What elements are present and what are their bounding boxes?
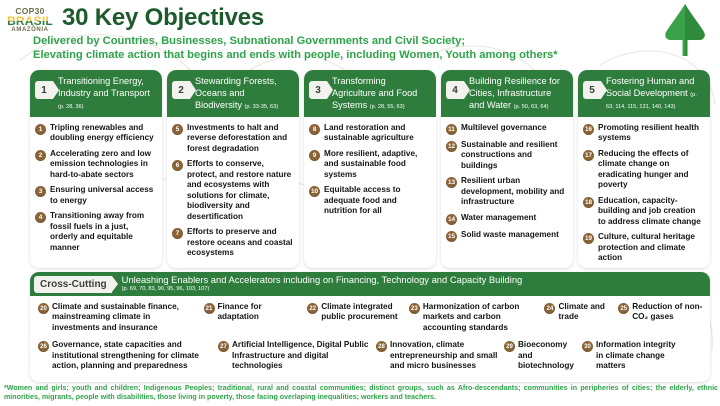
objective-text: Sustainable and resilient constructions …	[461, 140, 568, 172]
objective-number: 15	[446, 231, 457, 242]
cross-cutting-item: 30Information integrity in climate chang…	[582, 340, 678, 371]
cross-cutting-item-number: 30	[582, 341, 593, 352]
pillar-title: Building Resilience for Cities, Infrastr…	[469, 75, 567, 112]
logo-brasil-text: BRASIL	[6, 15, 54, 27]
pillar-body: 11Multilevel governance12Sustainable and…	[441, 117, 573, 268]
pillar-number-badge: 5	[583, 81, 601, 99]
cross-cutting-item: 28Innovation, climate entrepreneurship a…	[376, 340, 498, 371]
cross-cutting-items: 20Climate and sustainable finance, mains…	[30, 296, 710, 382]
objective-number: 13	[446, 177, 457, 188]
pillar-header-5: 5Fostering Human and Social Development …	[578, 70, 710, 117]
footnote: *Women and girls; youth and children; In…	[4, 384, 718, 403]
objective-item: 7Efforts to preserve and restore oceans …	[172, 227, 294, 259]
pillar-header-1: 1Transitioning Energy, Industry and Tran…	[30, 70, 162, 117]
cross-cutting-item-number: 23	[409, 303, 420, 314]
cross-cutting-item-text: Climate and trade	[558, 302, 612, 323]
objective-item: 14Water management	[446, 213, 568, 225]
objective-text: Water management	[461, 213, 536, 224]
cross-cutting-item-number: 25	[618, 303, 629, 314]
objective-number: 10	[309, 186, 320, 197]
objective-number: 5	[172, 124, 183, 135]
objective-item: 2Accelerating zero and low emission tech…	[35, 149, 157, 181]
pillar-title: Fostering Human and Social Development (…	[606, 75, 704, 112]
cross-cutting-badge: Cross-Cutting	[34, 276, 112, 293]
objective-number: 7	[172, 228, 183, 239]
pillar-4: 4Building Resilience for Cities, Infrast…	[441, 70, 573, 268]
cross-cutting-item-text: Harmonization of carbon markets and carb…	[423, 302, 539, 333]
pillar-header-2: 2Stewarding Forests, Oceans and Biodiver…	[167, 70, 299, 117]
objective-item: 12Sustainable and resilient construction…	[446, 140, 568, 172]
cross-cutting-item-number: 22	[307, 303, 318, 314]
objective-number: 19	[583, 233, 594, 244]
cross-cutting-heading: Unleashing Enablers and Accelerators inc…	[118, 275, 523, 292]
pillar-header-4: 4Building Resilience for Cities, Infrast…	[441, 70, 573, 117]
cross-cutting-item: 23Harmonization of carbon markets and ca…	[409, 302, 539, 333]
cross-cutting-item-text: Bioeconomy and biotechnology	[518, 340, 576, 371]
cross-cutting-item-text: Climate integrated public procurement	[321, 302, 403, 323]
objective-item: 15Solid waste management	[446, 230, 568, 242]
pillar-5: 5Fostering Human and Social Development …	[578, 70, 710, 268]
cross-cutting-item: 25Reduction of non-CO₂ gases	[618, 302, 704, 333]
objective-text: Culture, cultural heritage protection an…	[598, 232, 705, 264]
objective-text: Transitioning away from fossil fuels in …	[50, 211, 157, 253]
objective-number: 6	[172, 160, 183, 171]
cross-cutting-item: 29Bioeconomy and biotechnology	[504, 340, 576, 371]
cross-cutting-row: 26Governance, state capacities and insti…	[38, 340, 704, 371]
cross-cutting-pages: (p. 69, 70, 83, 90, 95, 96, 103, 107)	[122, 286, 523, 292]
cross-cutting-panel: Cross-Cutting Unleashing Enablers and Ac…	[30, 272, 710, 382]
pillar-title: Transitioning Energy, Industry and Trans…	[58, 75, 156, 112]
cross-cutting-item: 27Artificial Intelligence, Digital Publi…	[218, 340, 370, 371]
cross-cutting-item-text: Climate and sustainable finance, mainstr…	[52, 302, 198, 333]
objective-item: 9More resilient, adaptive, and sustainab…	[309, 149, 431, 181]
pillar-title: Transforming Agriculture and Food System…	[332, 75, 430, 112]
objective-number: 1	[35, 124, 46, 135]
objective-text: Solid waste management	[461, 230, 559, 241]
objective-text: Tripling renewables and doubling energy …	[50, 123, 157, 144]
logo-amazonia-text: AMAZÔNIA	[11, 27, 48, 33]
cross-cutting-item-number: 29	[504, 341, 515, 352]
objective-number: 3	[35, 186, 46, 197]
cross-cutting-header: Cross-Cutting Unleashing Enablers and Ac…	[30, 272, 710, 296]
pillar-page-reference: (p. 28, 36)	[58, 104, 84, 110]
page-header: COP30 BRASIL AMAZÔNIA 30 Key Objectives …	[0, 0, 720, 70]
objective-text: Multilevel governance	[461, 123, 547, 134]
objective-number: 18	[583, 197, 594, 208]
pillar-3: 3Transforming Agriculture and Food Syste…	[304, 70, 436, 268]
objective-number: 14	[446, 214, 457, 225]
objective-item: 17Reducing the effects of climate change…	[583, 149, 705, 191]
pillar-page-reference: (p. 50, 63, 64)	[514, 104, 549, 110]
pillar-title-text: Transitioning Energy, Industry and Trans…	[58, 76, 150, 98]
subtitle-line-1: Delivered by Countries, Businesses, Subn…	[33, 34, 713, 48]
subtitle-line-2: Elevating climate action that begins and…	[33, 48, 713, 62]
objective-item: 18Education, capacity-building and job c…	[583, 196, 705, 228]
cross-cutting-item: 22Climate integrated public procurement	[307, 302, 403, 333]
cop30-logo: COP30 BRASIL AMAZÔNIA	[6, 3, 54, 37]
amazonia-tree-icon	[658, 2, 712, 60]
objective-number: 17	[583, 150, 594, 161]
cross-cutting-item: 24Climate and trade	[544, 302, 612, 333]
objective-item: 8Land restoration and sustainable agricu…	[309, 123, 431, 144]
objective-number: 11	[446, 124, 457, 135]
pillar-number-badge: 1	[35, 81, 53, 99]
objective-text: Accelerating zero and low emission techn…	[50, 149, 157, 181]
cross-cutting-item-text: Information integrity in climate change …	[596, 340, 678, 371]
pillar-body: 8Land restoration and sustainable agricu…	[304, 117, 436, 268]
pillar-body: 5Investments to halt and reverse defores…	[167, 117, 299, 268]
objective-item: 13Resilient urban development, mobility …	[446, 176, 568, 208]
pillar-number-badge: 3	[309, 81, 327, 99]
objective-text: Ensuring universal access to energy	[50, 185, 157, 206]
objective-text: Investments to halt and reverse deforest…	[187, 123, 294, 155]
pillar-number-badge: 4	[446, 81, 464, 99]
pillar-page-reference: (p. 28, 55, 63)	[370, 104, 405, 110]
pillar-page-reference: (p. 33-35, 63)	[245, 104, 279, 110]
cross-cutting-item-number: 24	[544, 303, 555, 314]
cross-cutting-item-text: Reduction of non-CO₂ gases	[632, 302, 704, 323]
page-title: 30 Key Objectives	[62, 4, 264, 32]
pillar-1: 1Transitioning Energy, Industry and Tran…	[30, 70, 162, 268]
cross-cutting-item: 21Finance for adaptation	[204, 302, 302, 333]
objective-number: 2	[35, 150, 46, 161]
pillar-title: Stewarding Forests, Oceans and Biodivers…	[195, 75, 293, 112]
objective-item: 5Investments to halt and reverse defores…	[172, 123, 294, 155]
cross-cutting-item-text: Finance for adaptation	[218, 302, 302, 323]
objective-item: 3Ensuring universal access to energy	[35, 185, 157, 206]
objective-text: Promoting resilient health systems	[598, 123, 705, 144]
objective-text: More resilient, adaptive, and sustainabl…	[324, 149, 431, 181]
pillars-row: 1Transitioning Energy, Industry and Tran…	[30, 70, 710, 268]
objective-item: 19Culture, cultural heritage protection …	[583, 232, 705, 264]
cross-cutting-item: 20Climate and sustainable finance, mains…	[38, 302, 198, 333]
cross-cutting-heading-text: Unleashing Enablers and Accelerators inc…	[122, 275, 523, 286]
objective-text: Land restoration and sustainable agricul…	[324, 123, 431, 144]
objective-number: 4	[35, 212, 46, 223]
cross-cutting-item-number: 26	[38, 341, 49, 352]
cross-cutting-item: 26Governance, state capacities and insti…	[38, 340, 212, 371]
pillar-2: 2Stewarding Forests, Oceans and Biodiver…	[167, 70, 299, 268]
pillar-title-text: Fostering Human and Social Development	[606, 76, 694, 98]
objective-item: 1Tripling renewables and doubling energy…	[35, 123, 157, 144]
objective-text: Efforts to conserve, protect, and restor…	[187, 159, 294, 222]
objective-number: 9	[309, 150, 320, 161]
objective-number: 8	[309, 124, 320, 135]
objective-text: Efforts to preserve and restore oceans a…	[187, 227, 294, 259]
cross-cutting-item-number: 27	[218, 341, 229, 352]
page-subtitle: Delivered by Countries, Businesses, Subn…	[33, 34, 713, 63]
objective-item: 10Equitable access to adequate food and …	[309, 185, 431, 217]
objective-text: Education, capacity-building and job cre…	[598, 196, 705, 228]
cross-cutting-item-text: Artificial Intelligence, Digital Public …	[232, 340, 370, 371]
objective-text: Equitable access to adequate food and nu…	[324, 185, 431, 217]
cross-cutting-row: 20Climate and sustainable finance, mains…	[38, 302, 704, 333]
objective-number: 16	[583, 124, 594, 135]
objective-number: 12	[446, 141, 457, 152]
pillar-number-badge: 2	[172, 81, 190, 99]
objective-text: Reducing the effects of climate change o…	[598, 149, 705, 191]
cross-cutting-item-number: 21	[204, 303, 215, 314]
pillar-body: 16Promoting resilient health systems17Re…	[578, 117, 710, 268]
objective-item: 6Efforts to conserve, protect, and resto…	[172, 159, 294, 222]
objective-item: 4Transitioning away from fossil fuels in…	[35, 211, 157, 253]
objective-item: 11Multilevel governance	[446, 123, 568, 135]
cross-cutting-item-text: Governance, state capacities and institu…	[52, 340, 212, 371]
objective-text: Resilient urban development, mobility an…	[461, 176, 568, 208]
cross-cutting-item-text: Innovation, climate entrepreneurship and…	[390, 340, 498, 371]
pillar-body: 1Tripling renewables and doubling energy…	[30, 117, 162, 268]
pillar-header-3: 3Transforming Agriculture and Food Syste…	[304, 70, 436, 117]
cross-cutting-item-number: 20	[38, 303, 49, 314]
objective-item: 16Promoting resilient health systems	[583, 123, 705, 144]
cross-cutting-item-number: 28	[376, 341, 387, 352]
